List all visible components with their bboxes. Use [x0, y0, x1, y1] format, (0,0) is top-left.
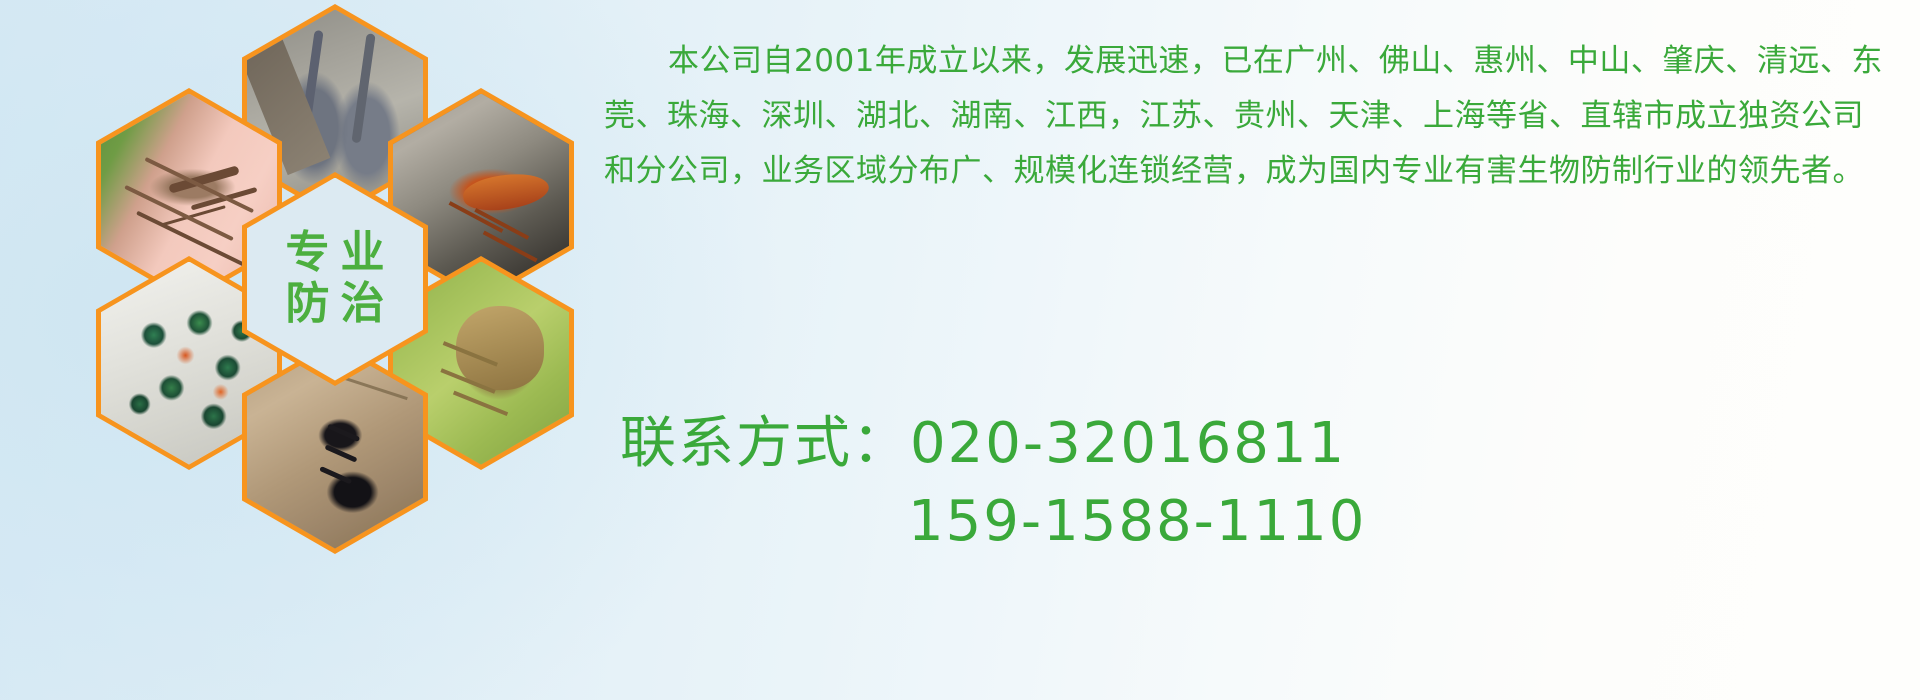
phone-primary[interactable]: 020-32016811: [910, 411, 1346, 476]
hex-inner: 专业 防治: [247, 178, 423, 381]
phone-secondary[interactable]: 159-1588-1110: [908, 489, 1366, 554]
intro-paragraph: 本公司自2001年成立以来，发展迅速，已在广州、佛山、惠州、中山、肇庆、清远、东…: [604, 34, 1894, 199]
promo-banner: 专业 防治 本公司自2001年成立以来，发展迅速，已在广州、佛山、惠州、中山、肇…: [0, 0, 1920, 700]
honeycomb-cluster: 专业 防治: [74, 0, 594, 574]
contact-label: 联系方式：: [620, 411, 910, 476]
contact-secondary-line: 159-1588-1110: [620, 483, 1920, 561]
contact-primary-line: 联系方式：020-32016811: [620, 405, 1920, 483]
contact-block: 联系方式：020-32016811 159-1588-1110: [620, 405, 1920, 561]
badge-line-2: 防治: [275, 282, 396, 327]
badge-line-1: 专业: [275, 231, 396, 276]
intro-copy: 本公司自2001年成立以来，发展迅速，已在广州、佛山、惠州、中山、肇庆、清远、东…: [604, 34, 1894, 199]
